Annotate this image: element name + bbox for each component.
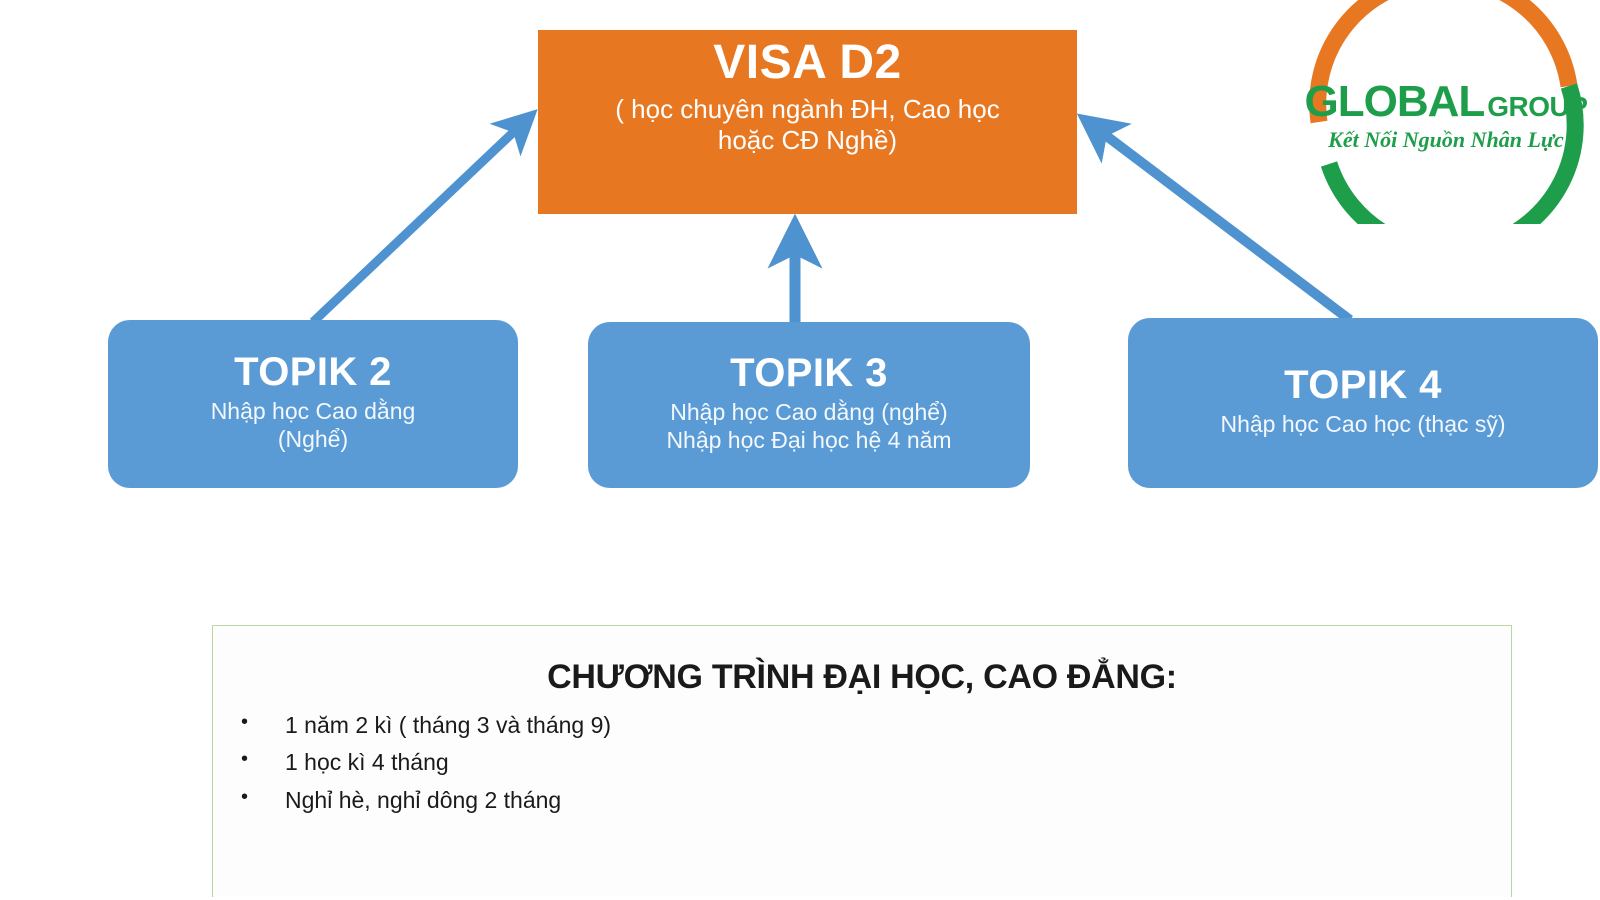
global-group-logo: GLOBAL GROUP Kết Nối Nguồn Nhân Lực bbox=[1283, 0, 1600, 224]
topik-4-subtitle: Nhập học Cao học (thạc sỹ) bbox=[1220, 410, 1505, 438]
logo-tagline: Kết Nối Nguồn Nhân Lực bbox=[1301, 127, 1591, 153]
logo-wordmark: GLOBAL GROUP bbox=[1301, 80, 1591, 124]
topik-2-box: TOPIK 2 Nhập học Cao dằng (Nghể) bbox=[108, 320, 518, 488]
program-panel: CHƯƠNG TRÌNH ĐẠI HỌC, CAO ĐẲNG: 1 năm 2 … bbox=[212, 625, 1512, 897]
topik-3-title: TOPIK 3 bbox=[730, 352, 888, 395]
topik-4-title: TOPIK 4 bbox=[1284, 364, 1442, 407]
visa-d2-subtitle: ( học chuyên ngành ĐH, Cao học hoặc CĐ N… bbox=[615, 94, 999, 157]
topik-4-box: TOPIK 4 Nhập học Cao học (thạc sỹ) bbox=[1128, 318, 1598, 488]
list-item: Nghỉ hè, nghỉ dông 2 tháng bbox=[227, 782, 1511, 819]
topik-2-title: TOPIK 2 bbox=[234, 351, 392, 394]
list-item: 1 học kì 4 tháng bbox=[227, 744, 1511, 781]
visa-d2-box: VISA D2 ( học chuyên ngành ĐH, Cao học h… bbox=[538, 30, 1077, 214]
program-title: CHƯƠNG TRÌNH ĐẠI HỌC, CAO ĐẲNG: bbox=[213, 658, 1511, 697]
topik-3-box: TOPIK 3 Nhập học Cao dằng (nghể) Nhập họ… bbox=[588, 322, 1030, 488]
logo-group-text: GROUP bbox=[1487, 93, 1587, 121]
program-list: 1 năm 2 kì ( tháng 3 và tháng 9) 1 học k… bbox=[213, 707, 1511, 819]
arrow-topik2-to-visa bbox=[313, 124, 522, 322]
topik-2-subtitle: Nhập học Cao dằng (Nghể) bbox=[211, 397, 416, 453]
logo-global-text: GLOBAL bbox=[1305, 80, 1485, 124]
list-item: 1 năm 2 kì ( tháng 3 và tháng 9) bbox=[227, 707, 1511, 744]
topik-3-subtitle: Nhập học Cao dằng (nghể) Nhập học Đại họ… bbox=[666, 398, 951, 454]
visa-d2-title: VISA D2 bbox=[713, 36, 901, 90]
